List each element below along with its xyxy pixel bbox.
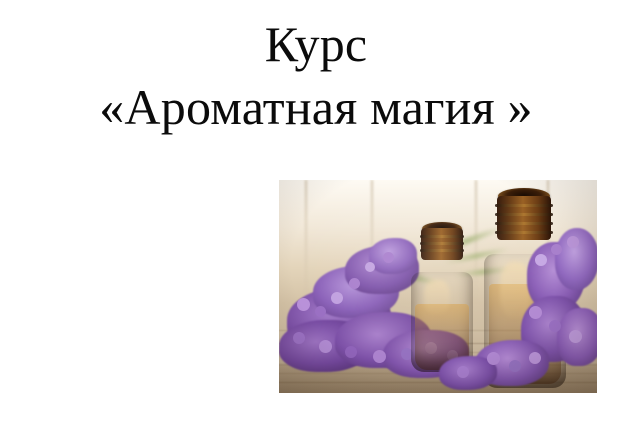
- bottle-thread: [495, 204, 553, 207]
- slide-canvas: Курс «Ароматная магия »: [0, 0, 632, 431]
- lavender-floret: [365, 262, 375, 272]
- lavender-floret: [315, 306, 326, 317]
- lavender-floret: [457, 366, 469, 378]
- title-line-2: «Ароматная магия »: [0, 77, 632, 138]
- bottle-thread: [420, 235, 464, 238]
- essential-oil-bottle-small: [410, 222, 474, 372]
- lavender-floret: [293, 332, 305, 344]
- page-title: Курс «Ароматная магия »: [0, 14, 632, 138]
- lavender-floret: [373, 350, 386, 363]
- bottle-thread: [495, 222, 553, 225]
- lavender-floret: [569, 330, 582, 343]
- lavender-floret: [349, 278, 360, 289]
- lavender-floret: [383, 252, 394, 263]
- lavender-floret: [487, 352, 500, 365]
- lavender-floret: [529, 306, 542, 319]
- lavender-floret: [535, 254, 547, 266]
- lavender-floret: [567, 236, 579, 248]
- lavender-floret: [319, 340, 332, 353]
- title-line-1: Курс: [0, 14, 632, 75]
- lavender-floret: [551, 244, 562, 255]
- bottle-thread: [495, 231, 553, 234]
- lavender-floret: [509, 360, 521, 372]
- lavender-oil-photo: [279, 180, 597, 393]
- bottle-thread: [495, 213, 553, 216]
- lavender-floret: [331, 292, 343, 304]
- bottle-thread: [420, 249, 464, 252]
- lavender-floret: [297, 298, 310, 311]
- bottle-thread: [420, 242, 464, 245]
- bottle-highlight-small: [424, 280, 450, 314]
- lavender-floret: [549, 320, 561, 332]
- plank-seam: [305, 180, 307, 304]
- lavender-floret: [345, 346, 357, 358]
- lavender-floret: [529, 352, 541, 364]
- plank-seam: [475, 180, 477, 304]
